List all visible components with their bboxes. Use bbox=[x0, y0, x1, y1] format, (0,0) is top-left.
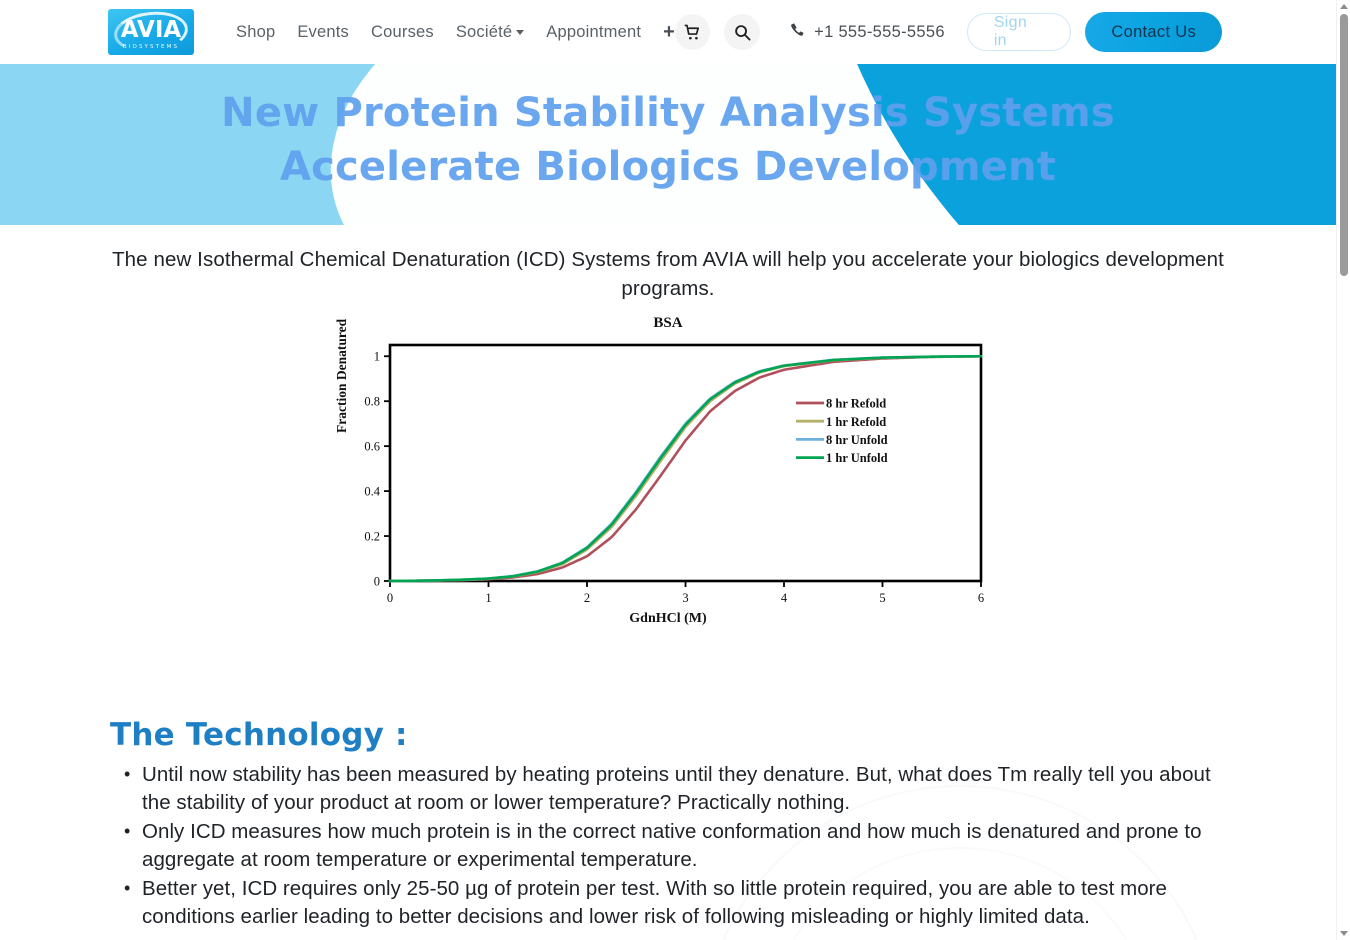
svg-text:1: 1 bbox=[374, 350, 380, 364]
shopping-cart-icon bbox=[684, 24, 701, 41]
svg-text:2: 2 bbox=[584, 591, 590, 605]
page-root: AVIA BIOSYSTEMS Shop Events Courses Soci… bbox=[0, 0, 1350, 940]
scrollbar-thumb[interactable] bbox=[1340, 14, 1348, 276]
search-icon bbox=[734, 24, 751, 41]
cart-button[interactable] bbox=[675, 14, 711, 50]
contact-us-button[interactable]: Contact Us bbox=[1085, 12, 1222, 52]
avia-logo[interactable]: AVIA BIOSYSTEMS bbox=[108, 9, 194, 55]
svg-text:8 hr Refold: 8 hr Refold bbox=[826, 397, 886, 411]
svg-text:1: 1 bbox=[485, 591, 491, 605]
list-item: Better yet, ICD requires only 25-50 µg o… bbox=[142, 875, 1226, 932]
svg-text:0: 0 bbox=[387, 591, 393, 605]
svg-text:0.2: 0.2 bbox=[364, 530, 380, 544]
primary-nav: Shop Events Courses Société Appointment … bbox=[236, 22, 675, 42]
search-button[interactable] bbox=[724, 14, 760, 50]
nav-actions: +1 555-555-5556 Sign in Contact Us bbox=[675, 12, 1336, 52]
nav-item-events[interactable]: Events bbox=[297, 23, 349, 42]
svg-text:8 hr Unfold: 8 hr Unfold bbox=[826, 433, 888, 447]
nav-item-societe[interactable]: Société bbox=[456, 23, 524, 42]
nav-item-societe-label: Société bbox=[456, 23, 512, 41]
svg-text:0.8: 0.8 bbox=[364, 395, 380, 409]
svg-text:1 hr Refold: 1 hr Refold bbox=[826, 415, 886, 429]
nav-item-appointment[interactable]: Appointment bbox=[546, 23, 641, 42]
scroll-down-arrow-icon[interactable] bbox=[1340, 931, 1348, 936]
sign-in-button[interactable]: Sign in bbox=[967, 13, 1072, 51]
results-heading: The results : bbox=[110, 932, 1226, 940]
svg-text:6: 6 bbox=[978, 591, 984, 605]
svg-text:0.6: 0.6 bbox=[364, 440, 380, 454]
phone-icon bbox=[790, 22, 805, 42]
hero-banner: New Protein Stability Analysis Systems A… bbox=[0, 64, 1336, 225]
hero-title-line1: New Protein Stability Analysis Systems bbox=[0, 86, 1336, 140]
scroll-up-arrow-icon[interactable] bbox=[1340, 4, 1348, 9]
svg-text:4: 4 bbox=[781, 591, 788, 605]
list-item: Only ICD measures how much protein is in… bbox=[142, 818, 1226, 875]
phone-block[interactable]: +1 555-555-5556 bbox=[790, 22, 945, 42]
phone-number: +1 555-555-5556 bbox=[814, 23, 945, 42]
main-content: The new Isothermal Chemical Denaturation… bbox=[0, 225, 1336, 940]
add-menu-icon[interactable]: + bbox=[663, 22, 675, 42]
chart-canvas: 00.20.40.60.8101234568 hr Refold1 hr Ref… bbox=[338, 315, 998, 615]
list-item: Until now stability has been measured by… bbox=[142, 761, 1226, 818]
technology-bullet-list: Until now stability has been measured by… bbox=[110, 761, 1226, 932]
logo-wordmark: AVIA bbox=[121, 19, 181, 42]
svg-text:5: 5 bbox=[879, 591, 885, 605]
hero-title-line2: Accelerate Biologics Development bbox=[0, 140, 1336, 194]
svg-text:1 hr Unfold: 1 hr Unfold bbox=[826, 451, 888, 465]
nav-item-courses[interactable]: Courses bbox=[371, 23, 434, 42]
lead-paragraph: The new Isothermal Chemical Denaturation… bbox=[110, 225, 1226, 303]
svg-text:0.4: 0.4 bbox=[364, 485, 380, 499]
nav-item-shop[interactable]: Shop bbox=[236, 23, 275, 42]
technology-heading: The Technology : bbox=[110, 625, 1226, 753]
logo-tagline: BIOSYSTEMS bbox=[123, 44, 179, 50]
hero-title: New Protein Stability Analysis Systems A… bbox=[0, 64, 1336, 194]
svg-text:0: 0 bbox=[374, 575, 380, 589]
page-scrollbar[interactable] bbox=[1336, 0, 1350, 940]
denaturation-chart: BSA Fraction Denatured GdnHCl (M) 00.20.… bbox=[338, 315, 998, 625]
svg-text:3: 3 bbox=[682, 591, 688, 605]
chevron-down-icon bbox=[516, 30, 524, 35]
top-navbar: AVIA BIOSYSTEMS Shop Events Courses Soci… bbox=[0, 0, 1336, 64]
